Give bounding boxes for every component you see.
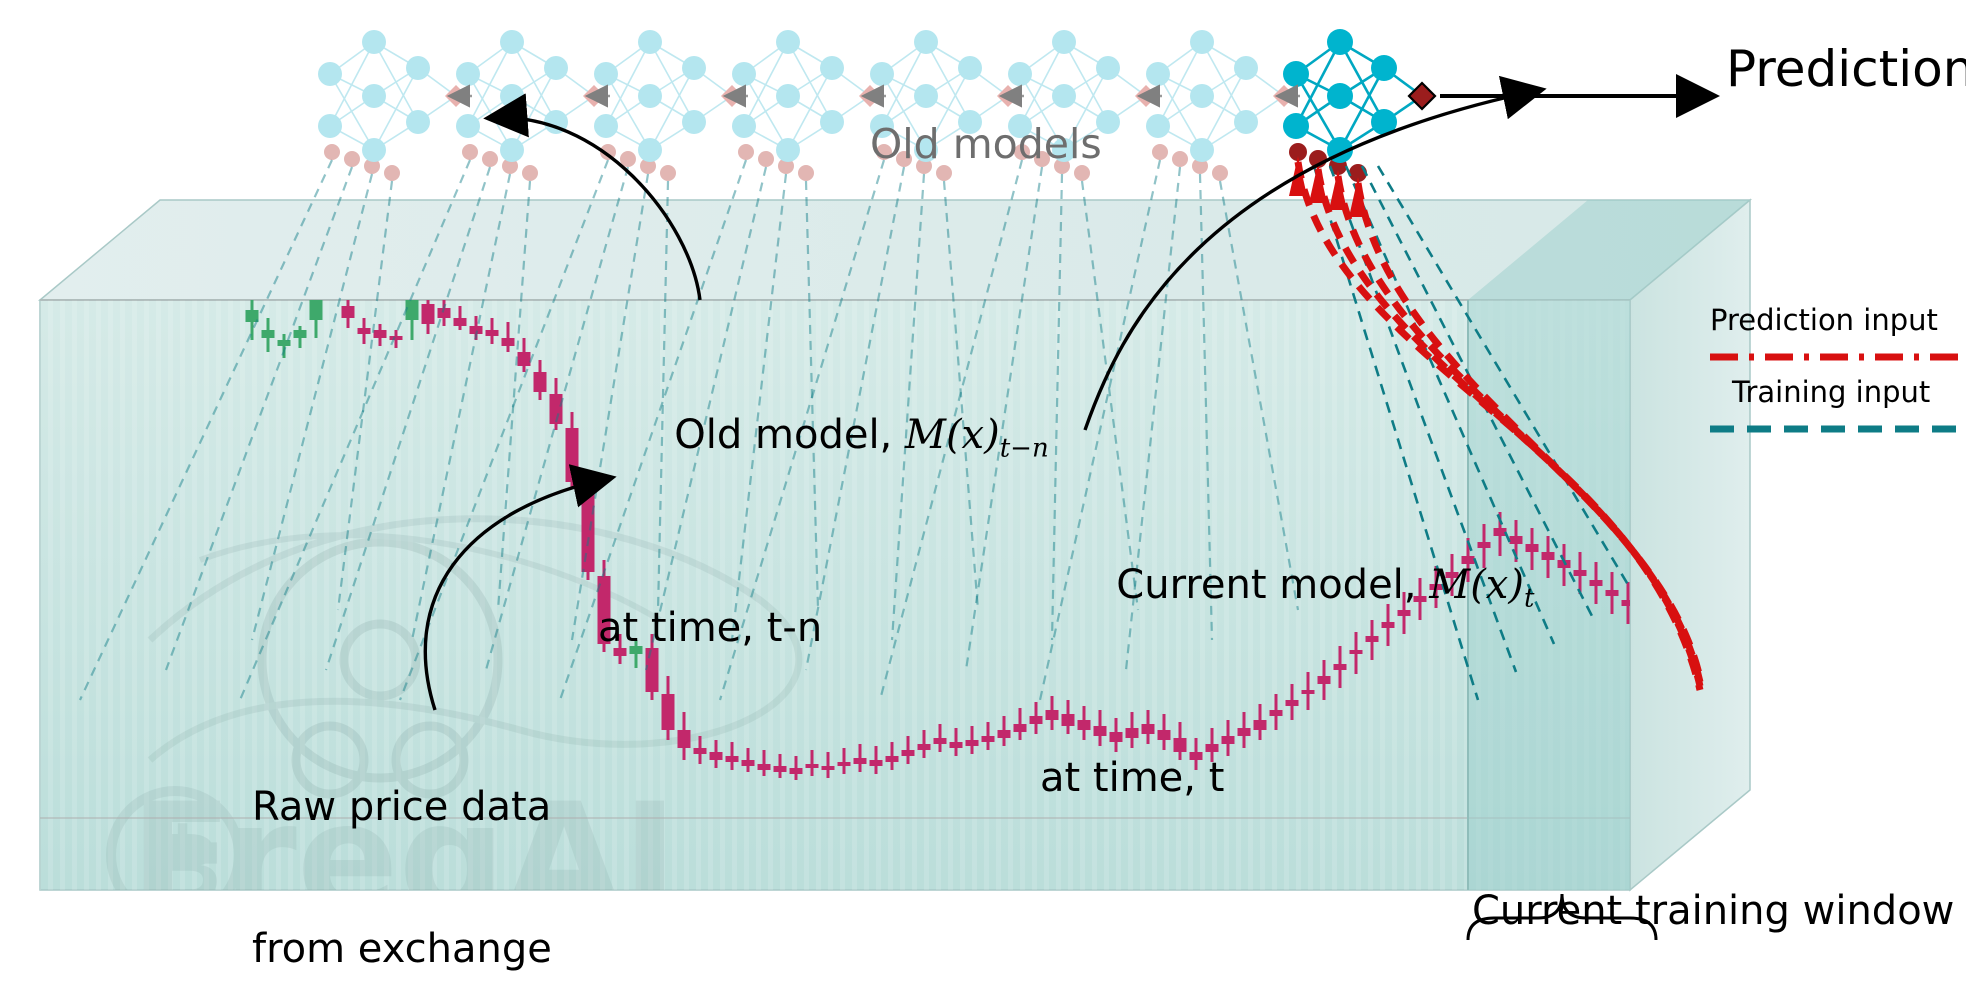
old-models-label: Old models [870,120,1102,168]
current-training-window-label: Current training window [1472,888,1954,935]
prediction-label: Prediction [1726,40,1966,99]
raw-price-line-2: from exchange [252,926,552,973]
old-model-time-line: at time, t-n [598,605,1049,652]
old-model-prefix: Old model, [674,412,905,458]
legend-label-prediction-input: Prediction input [1710,303,1938,337]
current-model-prefix: Current model, [1116,562,1429,608]
current-model-time-line: at time, t [1040,755,1534,802]
legend-label-training-input: Training input [1732,375,1930,409]
current-model-math-sub: t [1524,583,1534,613]
current-model-annotation: Current model, M(x)t at time, t [1040,420,1534,897]
old-model-annotation: Old model, M(x)t−n at time, t-n [598,270,1049,747]
old-model-math: M(x) [905,412,1000,458]
raw-price-line-1: Raw price data [252,784,552,831]
diagram-canvas: FreqAI ₿ [0,0,1966,981]
current-model-math: M(x) [1429,562,1524,608]
raw-price-annotation: Raw price data from exchange [252,690,552,981]
